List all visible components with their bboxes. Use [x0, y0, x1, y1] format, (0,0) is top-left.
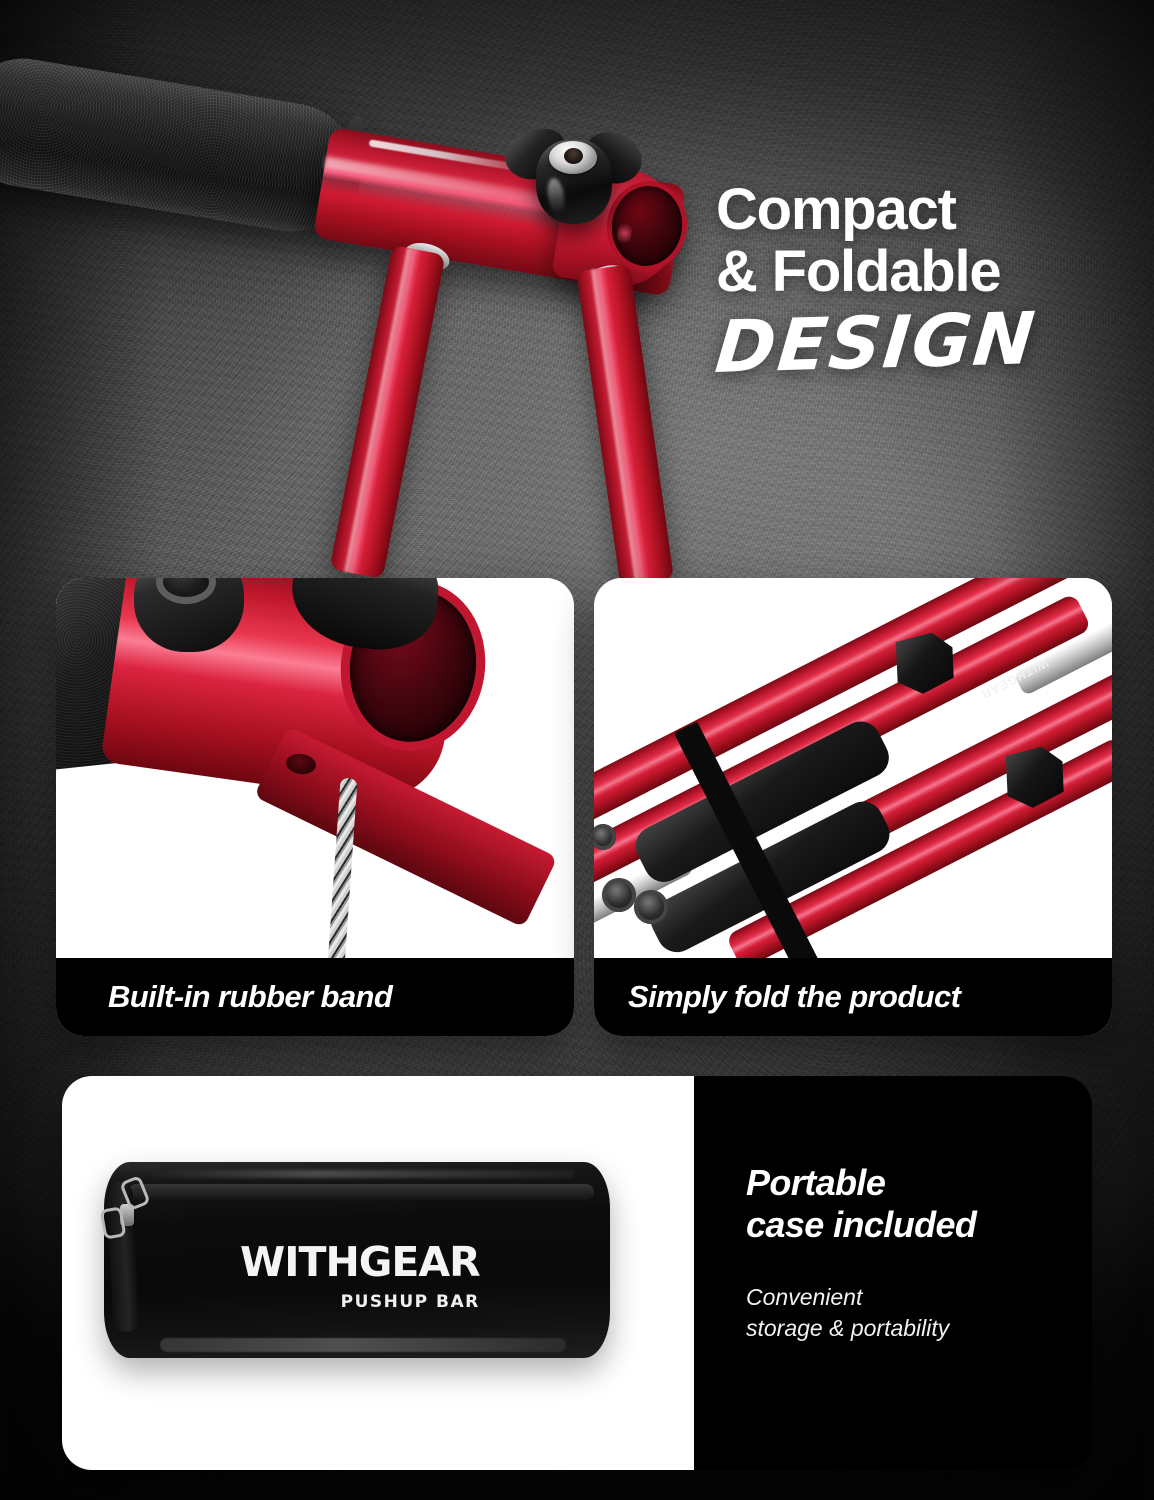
joint-closeup-photo: [56, 578, 574, 958]
case-product-text: PUSHUP BAR: [240, 1292, 480, 1312]
hero-section: Compact & Foldable DESIGN: [0, 0, 1154, 580]
portable-title-line-1: Portable: [746, 1162, 1092, 1204]
feature-caption-text-left: Built-in rubber band: [108, 979, 392, 1015]
feature-caption-bar-left: Built-in rubber band: [56, 958, 574, 1036]
folded-end-cap-2: [634, 890, 668, 924]
product-feature-poster: Compact & Foldable DESIGN Built-in rubbe…: [0, 0, 1154, 1500]
headline-block: Compact & Foldable DESIGN: [716, 182, 1128, 383]
case-logo-block: WITHGEAR PUSHUP BAR: [240, 1242, 480, 1312]
case-top-highlight: [144, 1170, 574, 1178]
feature-caption-bar-right: Simply fold the product: [594, 958, 1112, 1036]
portable-case-text-block: Portable case included Convenient storag…: [694, 1076, 1092, 1470]
leg-gloss-left: [344, 248, 416, 574]
carry-case-photo: WITHGEAR PUSHUP BAR: [62, 1076, 694, 1470]
portable-subtitle-line-1: Convenient: [746, 1282, 1092, 1314]
carry-case: WITHGEAR PUSHUP BAR: [104, 1162, 610, 1358]
foam-grip: [0, 49, 365, 241]
headline-line-2: & Foldable: [716, 244, 1128, 300]
portable-subtitle-line-2: storage & portability: [746, 1313, 1092, 1345]
feature-caption-text-right: Simply fold the product: [628, 979, 960, 1015]
leg-gloss-right: [591, 268, 644, 580]
headline-script-word: DESIGN: [713, 299, 1133, 382]
feature-panel-fold: WITHGEAR Simply fold the product: [594, 578, 1112, 1036]
red-leg-left: [330, 245, 446, 579]
headline-line-1: Compact: [716, 182, 1128, 238]
folded-product-photo: WITHGEAR: [594, 578, 1112, 958]
case-top-seam: [128, 1184, 594, 1200]
portable-title-line-2: case included: [746, 1204, 1092, 1246]
red-leg-right: [576, 264, 674, 580]
feature-panel-rubber-band: Built-in rubber band: [56, 578, 574, 1036]
portable-subtitle-block: Convenient storage & portability: [746, 1282, 1092, 1345]
knob-center-hole: [564, 148, 583, 164]
folded-end-cap-1: [602, 878, 636, 912]
portable-case-card: WITHGEAR PUSHUP BAR Portable case includ…: [62, 1076, 1092, 1470]
case-brand-text: WITHGEAR: [240, 1242, 480, 1283]
folded-bars-group: WITHGEAR: [594, 578, 1112, 958]
case-bottom-seam: [160, 1338, 566, 1352]
